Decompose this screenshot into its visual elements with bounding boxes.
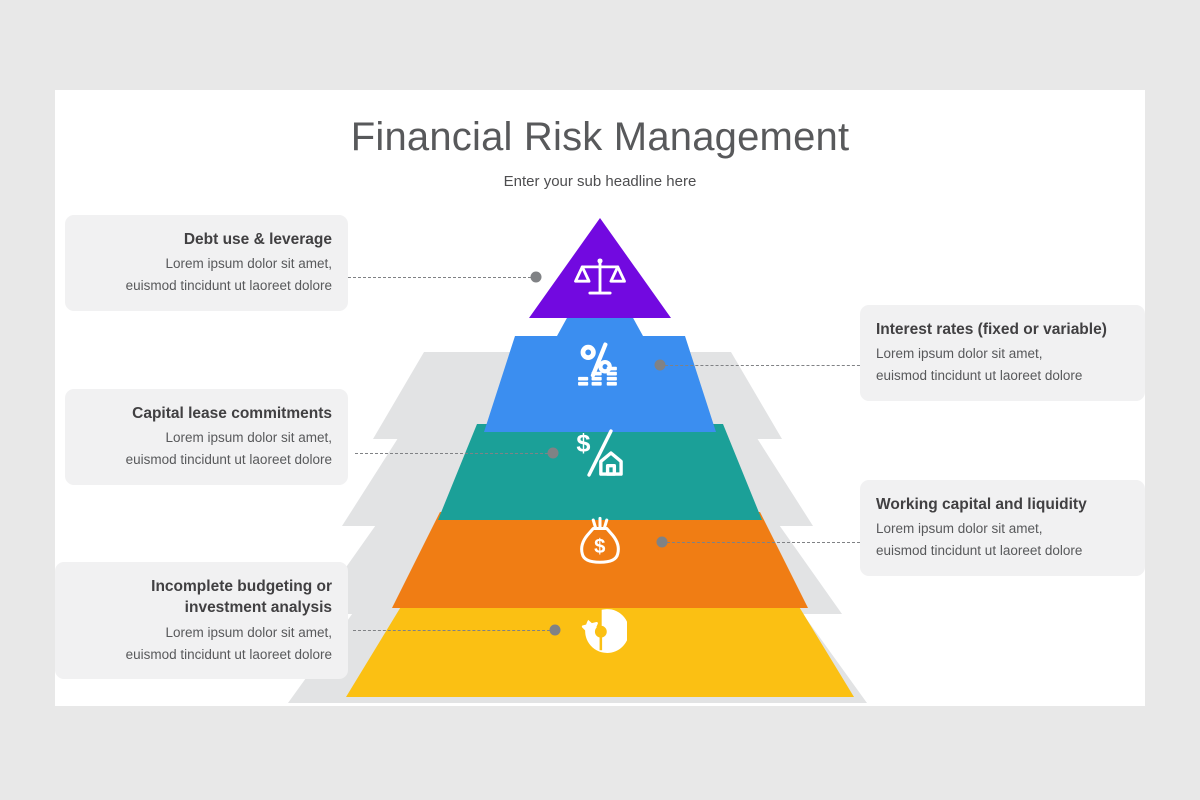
callout-body-line-2: euismod tincidunt ut laoreet dolore [81, 275, 332, 297]
callout-body-line-2: euismod tincidunt ut laoreet dolore [876, 540, 1129, 562]
callout-body-line-2: euismod tincidunt ut laoreet dolore [71, 644, 332, 666]
leader-line-tier-2 [660, 365, 865, 366]
leader-line-tier-3 [355, 453, 553, 454]
callout-body-line-1: Lorem ipsum dolor sit amet, [71, 622, 332, 644]
callout-interest-rates[interactable]: Interest rates (fixed or variable) Lorem… [860, 305, 1145, 401]
callout-body-line-1: Lorem ipsum dolor sit amet, [876, 343, 1129, 365]
leader-line-tier-4 [662, 542, 865, 543]
callout-body-line-2: euismod tincidunt ut laoreet dolore [81, 449, 332, 471]
callout-title: Working capital and liquidity [876, 494, 1129, 515]
leader-line-tier-5 [353, 630, 555, 631]
callout-incomplete-budgeting[interactable]: Incomplete budgeting or investment analy… [55, 562, 348, 679]
screenshot-canvas: Financial Risk Management Enter your sub… [0, 0, 1200, 800]
callout-body-line-1: Lorem ipsum dolor sit amet, [876, 518, 1129, 540]
leader-line-tier-1 [343, 277, 536, 278]
callout-title: Debt use & leverage [81, 229, 332, 250]
callout-title: Incomplete budgeting or investment analy… [71, 576, 332, 619]
callout-title: Interest rates (fixed or variable) [876, 319, 1129, 340]
callout-debt-use-leverage[interactable]: Debt use & leverage Lorem ipsum dolor si… [65, 215, 348, 311]
callout-title: Capital lease commitments [81, 403, 332, 424]
slide-card: Financial Risk Management Enter your sub… [55, 90, 1145, 706]
callout-body-line-1: Lorem ipsum dolor sit amet, [81, 253, 332, 275]
callout-body-line-2: euismod tincidunt ut laoreet dolore [876, 365, 1129, 387]
callout-working-capital-liquidity[interactable]: Working capital and liquidity Lorem ipsu… [860, 480, 1145, 576]
callout-capital-lease-commitments[interactable]: Capital lease commitments Lorem ipsum do… [65, 389, 348, 485]
pyramid-tier-1 [529, 218, 671, 318]
callout-body-line-1: Lorem ipsum dolor sit amet, [81, 427, 332, 449]
